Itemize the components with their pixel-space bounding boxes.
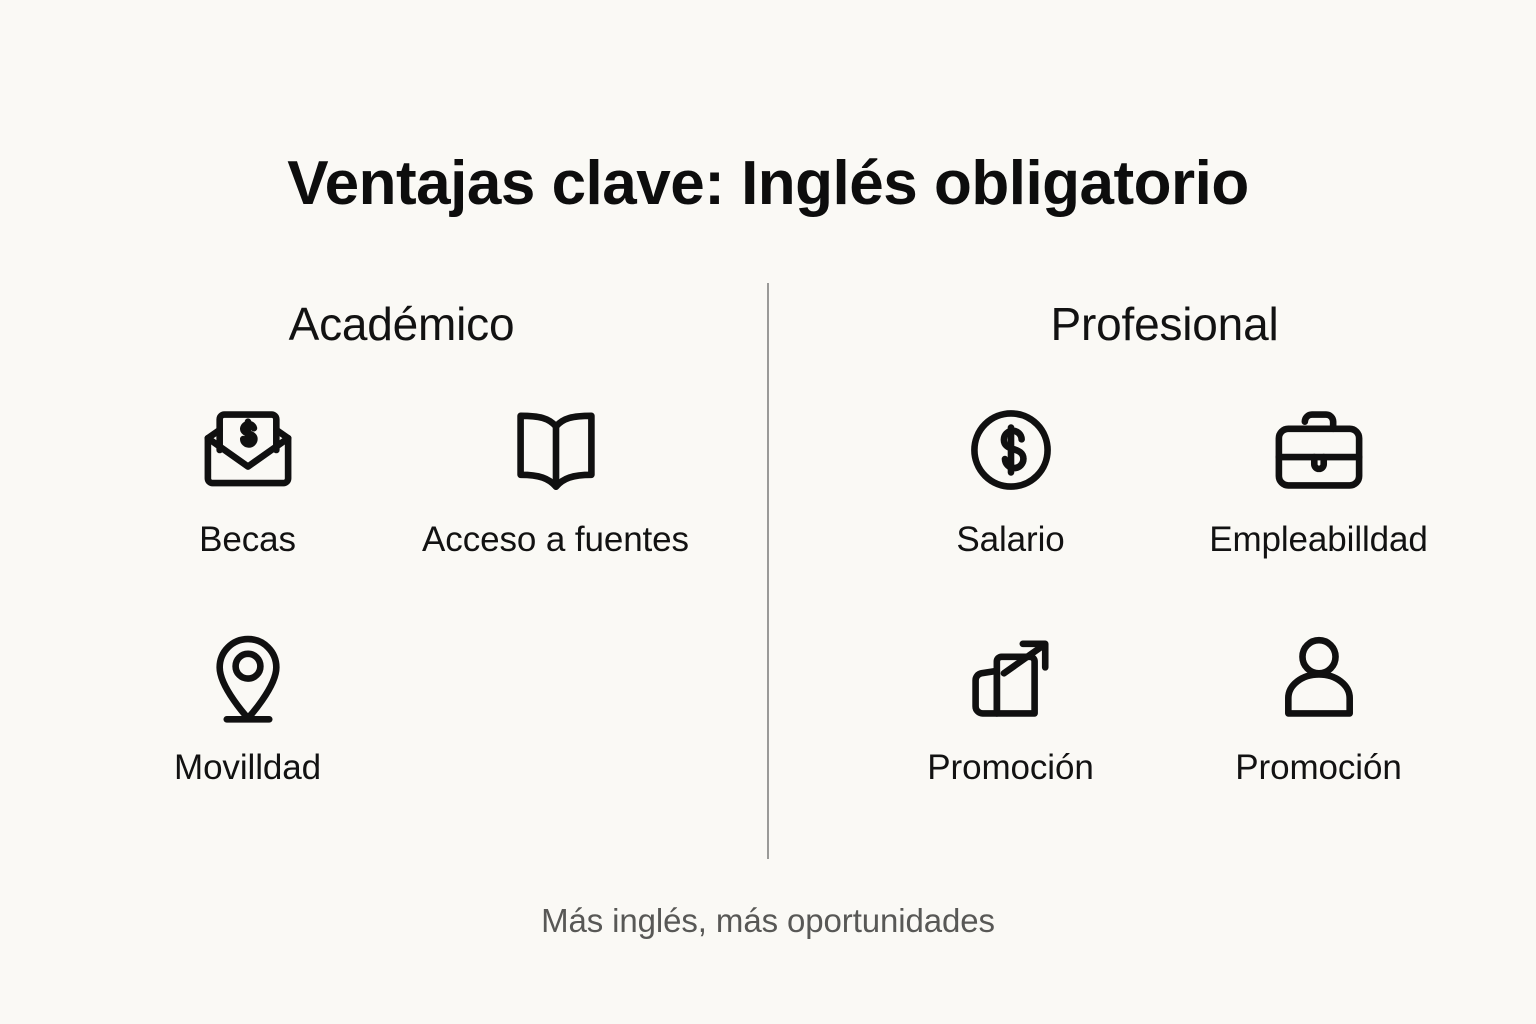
benefit-label: Becas [199, 518, 296, 563]
column-professional: Profesional Salario [773, 283, 1536, 883]
location-pin-icon [188, 618, 308, 738]
dollar-coin-icon [951, 390, 1071, 510]
benefit-label: Movilldad [174, 746, 321, 791]
envelope-dollar-icon [188, 390, 308, 510]
column-academic: Académico [0, 283, 773, 883]
benefit-label: Promoción [927, 746, 1093, 791]
person-icon [1259, 618, 1379, 738]
item-grid-academic: Becas Acceso a fuentes [94, 390, 710, 828]
benefit-label: Promoción [1235, 746, 1401, 791]
benefit-item-promocion-growth[interactable]: Promoción [861, 618, 1161, 828]
growth-chart-arrow-icon [951, 618, 1071, 738]
benefit-item-empleabilidad[interactable]: Empleabilldad [1169, 390, 1469, 618]
benefit-item-movilidad[interactable]: Movilldad [98, 618, 398, 828]
slide-canvas: Ventajas clave: Inglés obligatorio Acadé… [0, 0, 1536, 1024]
column-heading-professional: Profesional [1051, 299, 1279, 350]
columns-container: Académico [0, 283, 1536, 883]
footer-tagline: Más inglés, más oportunidades [0, 902, 1536, 940]
page-title: Ventajas clave: Inglés obligatorio [0, 150, 1536, 218]
benefit-label: Empleabilldad [1209, 518, 1428, 563]
open-book-icon [496, 390, 616, 510]
benefit-label: Salario [956, 518, 1064, 563]
benefit-item-acceso-a-fuentes[interactable]: Acceso a fuentes [406, 390, 706, 618]
briefcase-icon [1259, 390, 1379, 510]
column-heading-academic: Académico [289, 299, 515, 350]
benefit-item-promocion-person[interactable]: Promoción [1169, 618, 1469, 828]
benefit-item-becas[interactable]: Becas [98, 390, 398, 618]
benefit-item-salario[interactable]: Salario [861, 390, 1161, 618]
item-grid-professional: Salario [857, 390, 1473, 828]
benefit-label: Acceso a fuentes [422, 518, 689, 563]
